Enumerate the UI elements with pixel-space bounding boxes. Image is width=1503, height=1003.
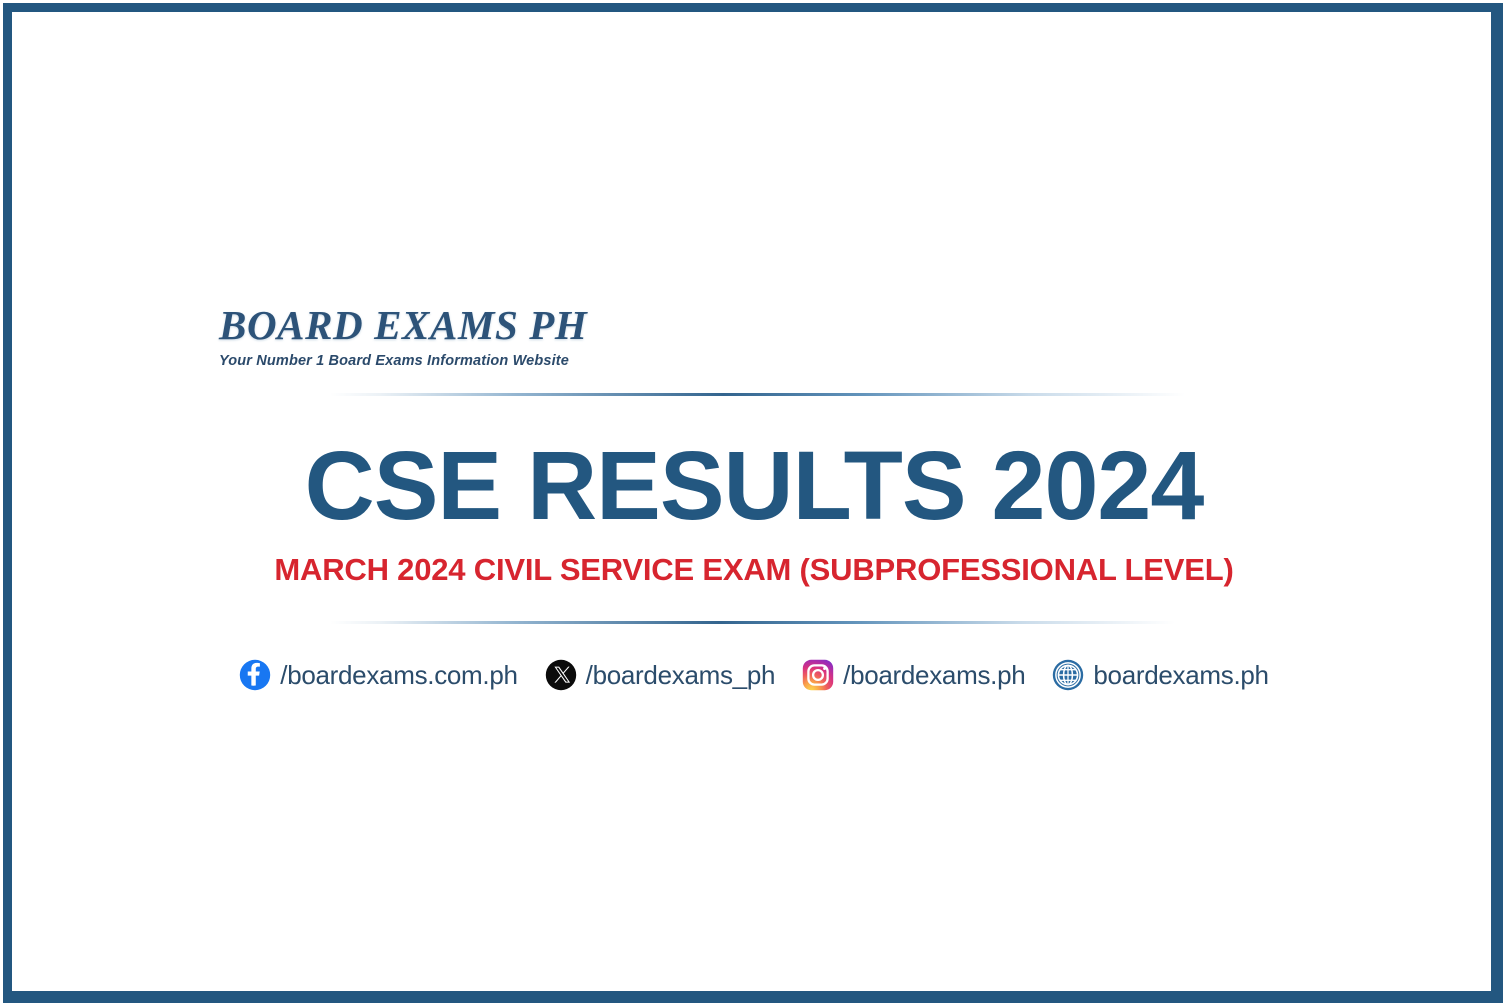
social-link-website-label: boardexams.ph	[1093, 660, 1268, 691]
headline-block: CSE RESULTS 2024 MARCH 2024 CIVIL SERVIC…	[0, 437, 1503, 585]
poster-content: BOARD EXAMS PH Your Number 1 Board Exams…	[0, 0, 1503, 1003]
social-link-website[interactable]: boardexams.ph	[1052, 659, 1268, 691]
social-links-row: /boardexams.com.ph /boardexams_ph	[0, 659, 1503, 691]
social-link-facebook-label: /boardexams.com.ph	[280, 660, 517, 691]
divider-top	[330, 393, 1185, 396]
logo-tagline: Your Number 1 Board Exams Information We…	[219, 353, 919, 369]
page-subtitle: MARCH 2024 CIVIL SERVICE EXAM (SUBPROFES…	[5, 554, 1503, 585]
social-link-x-twitter[interactable]: /boardexams_ph	[545, 659, 775, 691]
poster-canvas: BOARD EXAMS PH Your Number 1 Board Exams…	[0, 0, 1503, 1003]
social-link-instagram[interactable]: /boardexams.ph	[802, 659, 1025, 691]
site-logo: BOARD EXAMS PH Your Number 1 Board Exams…	[219, 305, 919, 369]
instagram-icon	[802, 659, 834, 691]
x-twitter-icon	[545, 659, 577, 691]
page-title: CSE RESULTS 2024	[5, 437, 1503, 534]
facebook-icon	[239, 659, 271, 691]
divider-bottom	[330, 621, 1175, 624]
social-link-x-twitter-label: /boardexams_ph	[586, 660, 775, 691]
globe-website-icon	[1052, 659, 1084, 691]
social-link-facebook[interactable]: /boardexams.com.ph	[239, 659, 517, 691]
logo-wordmark: BOARD EXAMS PH	[219, 305, 919, 346]
social-link-instagram-label: /boardexams.ph	[843, 660, 1025, 691]
